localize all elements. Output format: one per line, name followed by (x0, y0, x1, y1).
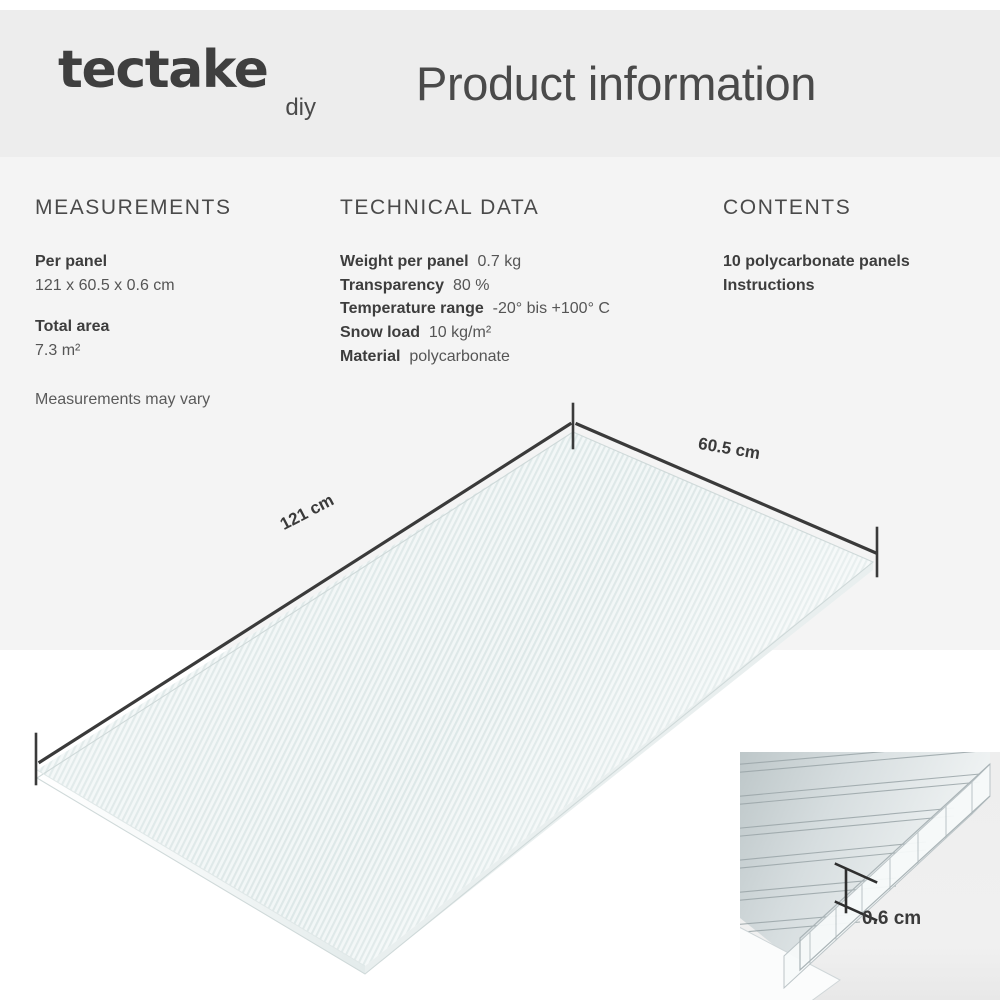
technical-data-column: TECHNICAL DATA Weight per panel 0.7 kg T… (340, 196, 715, 368)
measurement-group-total-area: Total area 7.3 m² (35, 315, 335, 362)
contents-item-panels: 10 polycarbonate panels (723, 250, 993, 274)
temperature-value: -20° bis +100° C (493, 300, 610, 317)
material-label: Material (340, 348, 405, 365)
measurement-group-per-panel: Per panel 121 x 60.5 x 0.6 cm (35, 250, 335, 297)
contents-column: CONTENTS 10 polycarbonate panels Instruc… (723, 196, 993, 298)
technical-row-snow-load: Snow load 10 kg/m² (340, 321, 715, 345)
weight-value: 0.7 kg (478, 253, 522, 270)
technical-data-heading: TECHNICAL DATA (340, 196, 715, 220)
per-panel-label: Per panel (35, 250, 335, 274)
technical-row-temperature: Temperature range -20° bis +100° C (340, 297, 715, 321)
technical-row-weight: Weight per panel 0.7 kg (340, 250, 715, 274)
measurements-column: MEASUREMENTS Per panel 121 x 60.5 x 0.6 … (35, 196, 335, 409)
panel-detail-inset (740, 752, 1000, 1000)
snow-load-value: 10 kg/m² (429, 324, 491, 341)
product-information-sheet: tectake diy Product information MEASUREM… (0, 0, 1000, 1000)
transparency-label: Transparency (340, 277, 449, 294)
page-title: Product information (416, 56, 816, 111)
brand-logo-subtext: diy (285, 94, 316, 122)
technical-row-transparency: Transparency 80 % (340, 274, 715, 298)
dimension-label-thickness: 0.6 cm (862, 908, 921, 930)
technical-row-material: Material polycarbonate (340, 345, 715, 369)
material-value: polycarbonate (409, 348, 510, 365)
contents-item-instructions: Instructions (723, 274, 993, 298)
contents-heading: CONTENTS (723, 196, 993, 220)
weight-label: Weight per panel (340, 253, 473, 270)
transparency-value: 80 % (453, 277, 489, 294)
per-panel-value: 121 x 60.5 x 0.6 cm (35, 274, 335, 298)
measurements-heading: MEASUREMENTS (35, 196, 335, 220)
brand-logo: tectake diy (58, 44, 318, 126)
total-area-value: 7.3 m² (35, 339, 335, 363)
snow-load-label: Snow load (340, 324, 424, 341)
total-area-label: Total area (35, 315, 335, 339)
brand-logo-text: tectake (58, 44, 318, 96)
temperature-label: Temperature range (340, 300, 488, 317)
